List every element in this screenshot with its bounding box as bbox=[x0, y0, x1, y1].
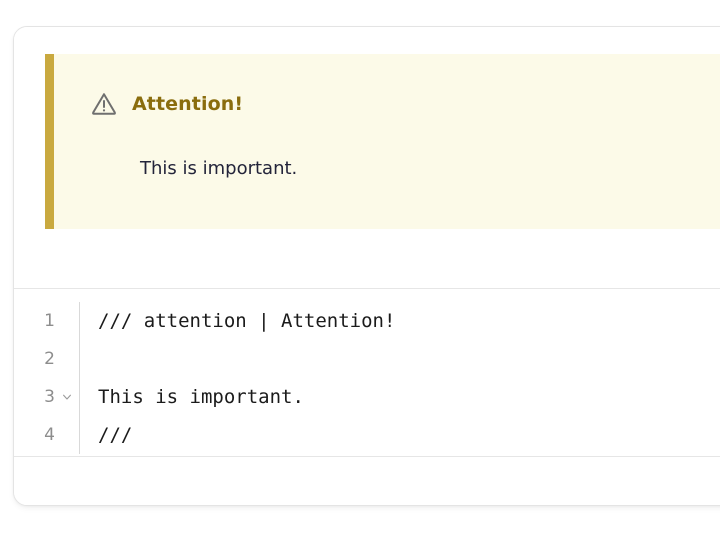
code-editor-grid: 1 2 3 bbox=[14, 302, 720, 454]
gutter-row: 2 bbox=[14, 340, 79, 378]
code-line[interactable]: /// bbox=[98, 416, 720, 454]
fold-slot bbox=[59, 389, 75, 405]
code-line[interactable] bbox=[98, 340, 720, 378]
chevron-down-icon[interactable] bbox=[62, 392, 72, 402]
gutter-row: 4 bbox=[14, 416, 79, 454]
code-editor-pane[interactable]: 1 2 3 bbox=[14, 289, 720, 457]
admonition-body-text: This is important. bbox=[140, 156, 297, 181]
line-number: 3 bbox=[43, 389, 55, 406]
admonition-title: Attention! bbox=[132, 95, 243, 114]
gutter-row: 3 bbox=[14, 378, 79, 416]
screenshot-stage: Attention! This is important. 1 2 bbox=[0, 0, 720, 544]
line-number-gutter: 1 2 3 bbox=[14, 302, 80, 454]
warning-triangle-icon bbox=[90, 90, 118, 118]
fold-slot bbox=[59, 313, 75, 329]
code-line[interactable]: /// attention | Attention! bbox=[98, 302, 720, 340]
line-number: 1 bbox=[43, 313, 55, 330]
admonition-attention: Attention! This is important. bbox=[45, 54, 720, 229]
line-number: 2 bbox=[43, 351, 55, 368]
card-footer bbox=[14, 457, 720, 505]
admonition-title-row: Attention! bbox=[90, 90, 243, 118]
rendered-preview-pane: Attention! This is important. bbox=[14, 27, 720, 289]
code-line[interactable]: This is important. bbox=[98, 378, 720, 416]
line-number: 4 bbox=[43, 427, 55, 444]
code-text-area[interactable]: /// attention | Attention! This is impor… bbox=[80, 302, 720, 454]
gutter-row: 1 bbox=[14, 302, 79, 340]
preview-card: Attention! This is important. 1 2 bbox=[13, 26, 720, 506]
fold-slot bbox=[59, 351, 75, 367]
fold-slot bbox=[59, 427, 75, 443]
